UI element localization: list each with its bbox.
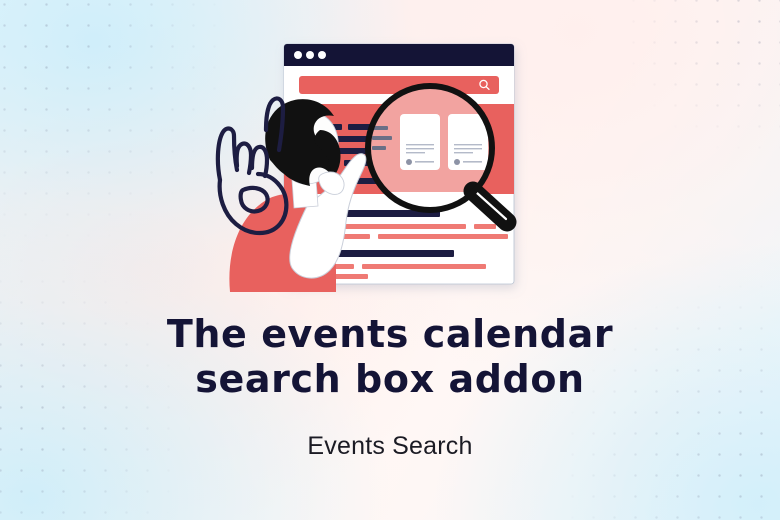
page-title: The events calendar search box addon xyxy=(0,312,780,402)
poster-canvas: The events calendar search box addon Eve… xyxy=(0,0,780,520)
page-subtitle: Events Search xyxy=(0,432,780,461)
browser-titlebar xyxy=(284,44,514,66)
window-dot-maximize xyxy=(318,51,326,59)
text-block: The events calendar search box addon Eve… xyxy=(0,312,780,461)
page-title-line-1: The events calendar xyxy=(90,312,690,357)
result-card-1[interactable] xyxy=(400,114,440,170)
events-search-illustration xyxy=(196,34,544,292)
result-card-2[interactable] xyxy=(448,114,488,170)
window-dot-minimize xyxy=(306,51,314,59)
window-dot-close xyxy=(294,51,302,59)
page-title-line-2: search box addon xyxy=(90,357,690,402)
dot-pattern-top-right xyxy=(560,0,780,210)
